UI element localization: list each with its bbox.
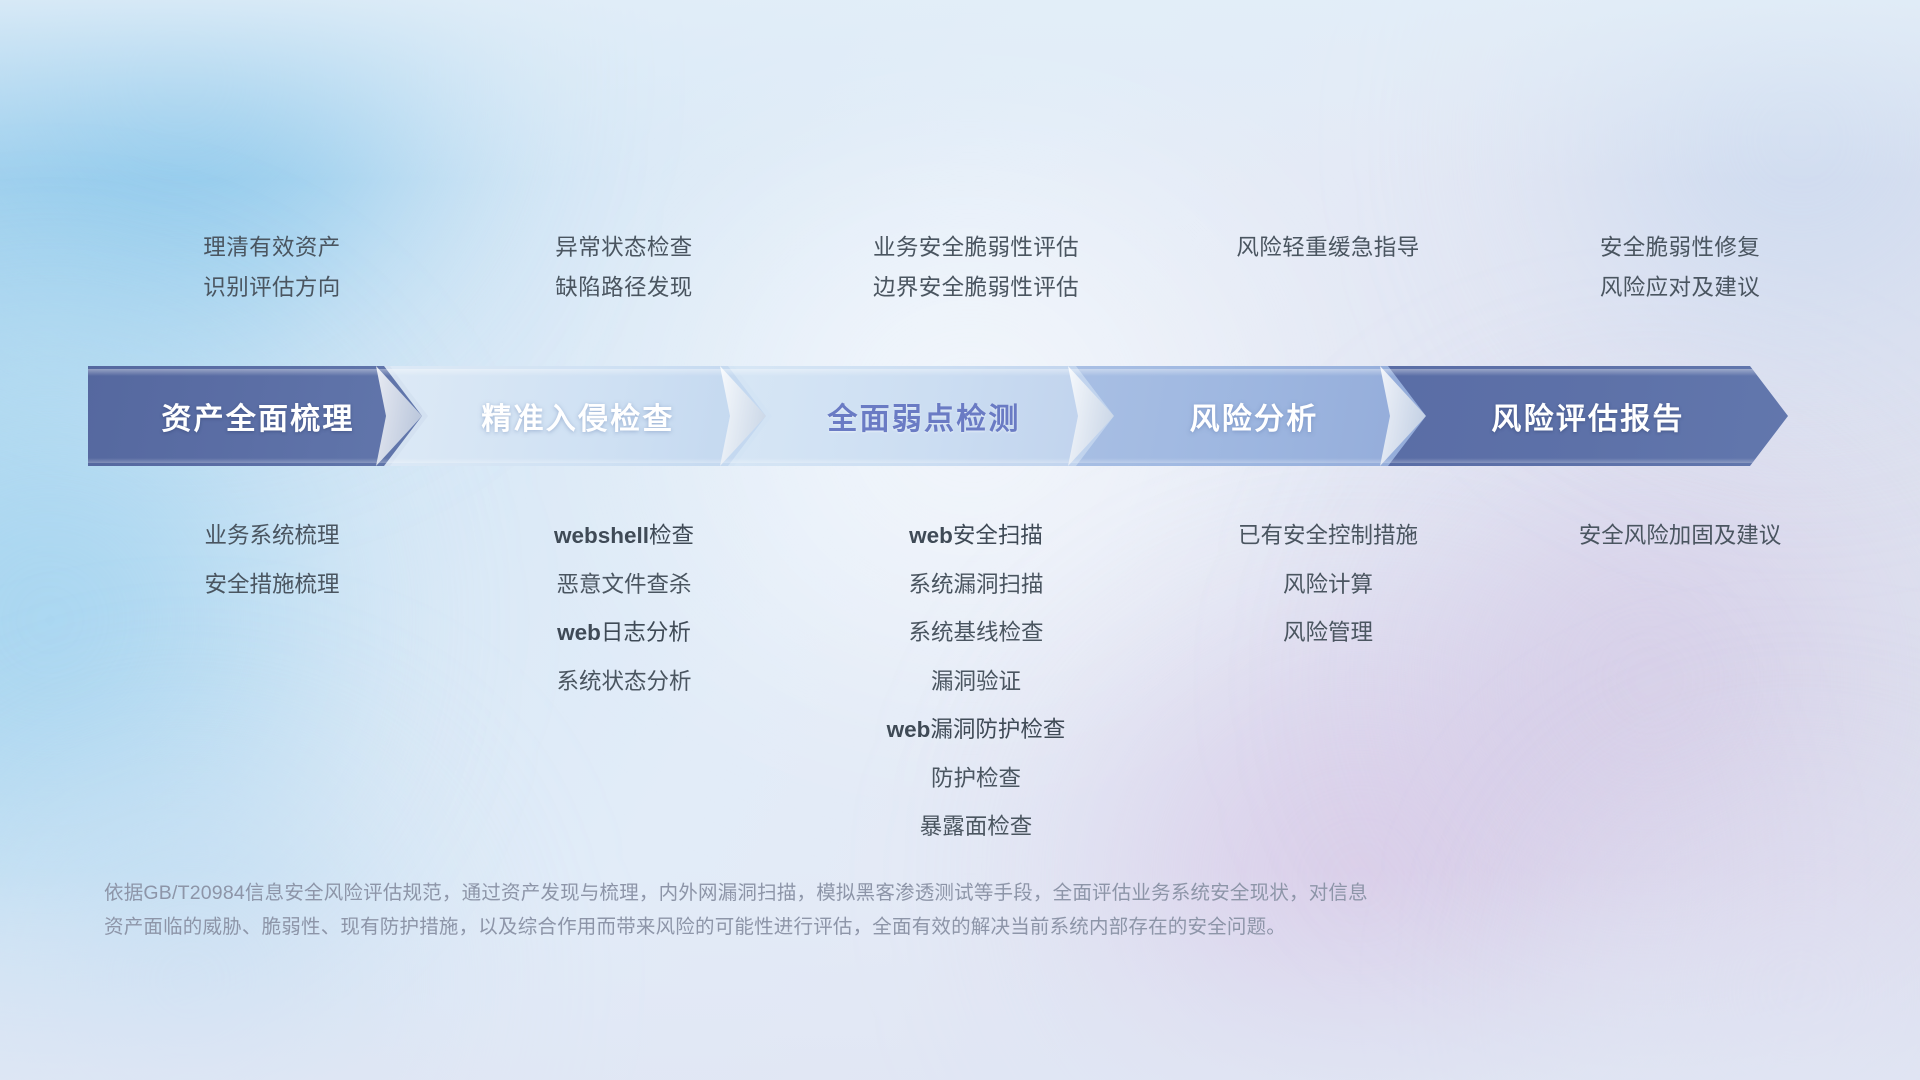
stage-top-label: 风险应对及建议 xyxy=(1504,268,1856,308)
stage-detail-item: 系统漏洞扫描 xyxy=(800,561,1152,610)
stage-chevron-title: 风险评估报告 xyxy=(1491,394,1684,438)
stage-detail-item-latin: webshell xyxy=(554,523,649,548)
stage-top-label: 业务安全脆弱性评估 xyxy=(800,228,1152,268)
stage-detail-item: 业务系统梳理 xyxy=(96,512,448,561)
stage-detail-item: 漏洞验证 xyxy=(800,658,1152,707)
stage-detail-item: 系统状态分析 xyxy=(448,658,800,707)
stage-chevron-title: 风险分析 xyxy=(1190,394,1319,438)
stage-top-label: 识别评估方向 xyxy=(96,268,448,308)
stage-detail-item: 恶意文件查杀 xyxy=(448,561,800,610)
stage-detail-item: web漏洞防护检查 xyxy=(800,706,1152,755)
stage-top-labels-4: 风险轻重缓急指导 xyxy=(1152,228,1504,308)
stage-detail-item-latin: web xyxy=(557,620,601,645)
stage-detail-item: web日志分析 xyxy=(448,609,800,658)
stage-detail-lists-row: 业务系统梳理 安全措施梳理 webshell检查 恶意文件查杀 web日志分析 … xyxy=(96,512,1856,852)
stage-detail-item-cjk: 安全扫描 xyxy=(953,523,1043,548)
stage-detail-list-5: 安全风险加固及建议 xyxy=(1504,512,1856,561)
stage-detail-item: 已有安全控制措施 xyxy=(1152,512,1504,561)
stage-detail-item-cjk: 检查 xyxy=(649,523,694,548)
stage-detail-item: 风险管理 xyxy=(1152,609,1504,658)
stage-top-label: 风险轻重缓急指导 xyxy=(1152,228,1504,268)
process-diagram: 理清有效资产 识别评估方向 异常状态检查 缺陷路径发现 业务安全脆弱性评估 边界… xyxy=(0,0,1920,1080)
stage-top-labels-1: 理清有效资产 识别评估方向 xyxy=(96,228,448,308)
stage-detail-item-latin: web xyxy=(887,717,931,742)
stage-detail-item: 系统基线检查 xyxy=(800,609,1152,658)
stage-chevron-risk-analysis[interactable]: 风险分析 xyxy=(1076,366,1432,466)
stage-detail-item: 安全措施梳理 xyxy=(96,561,448,610)
stage-detail-list-1: 业务系统梳理 安全措施梳理 xyxy=(96,512,448,609)
stage-top-labels-row: 理清有效资产 识别评估方向 异常状态检查 缺陷路径发现 业务安全脆弱性评估 边界… xyxy=(96,228,1856,308)
stage-top-label: 理清有效资产 xyxy=(96,228,448,268)
stage-detail-item-cjk: 日志分析 xyxy=(601,620,691,645)
stage-chevron-risk-report[interactable]: 风险评估报告 xyxy=(1388,366,1788,466)
footer-description: 依据GB/T20984信息安全风险评估规范，通过资产发现与梳理，内外网漏洞扫描，… xyxy=(104,876,1624,944)
stage-chevron-band: 资产全面梳理 精准入侵检查 全面弱点检测 风险分析 风险评估报告 xyxy=(88,366,1848,466)
stage-detail-list-3: web安全扫描 系统漏洞扫描 系统基线检查 漏洞验证 web漏洞防护检查 防护检… xyxy=(800,512,1152,852)
stage-detail-list-2: webshell检查 恶意文件查杀 web日志分析 系统状态分析 xyxy=(448,512,800,706)
stage-chevron-asset-inventory[interactable]: 资产全面梳理 xyxy=(88,366,428,466)
stage-detail-item: 风险计算 xyxy=(1152,561,1504,610)
stage-top-labels-3: 业务安全脆弱性评估 边界安全脆弱性评估 xyxy=(800,228,1152,308)
stage-chevron-title: 全面弱点检测 xyxy=(827,394,1020,438)
stage-detail-item-latin: web xyxy=(909,523,953,548)
stage-top-labels-2: 异常状态检查 缺陷路径发现 xyxy=(448,228,800,308)
stage-detail-item: web安全扫描 xyxy=(800,512,1152,561)
stage-chevron-title: 精准入侵检查 xyxy=(481,394,674,438)
stage-chevron-intrusion-check[interactable]: 精准入侵检查 xyxy=(384,366,772,466)
stage-top-label: 安全脆弱性修复 xyxy=(1504,228,1856,268)
stage-detail-item: 防护检查 xyxy=(800,755,1152,804)
stage-chevron-weakness-detection[interactable]: 全面弱点检测 xyxy=(728,366,1120,466)
stage-top-label: 异常状态检查 xyxy=(448,228,800,268)
stage-top-labels-5: 安全脆弱性修复 风险应对及建议 xyxy=(1504,228,1856,308)
stage-detail-item: 暴露面检查 xyxy=(800,803,1152,852)
stage-top-label: 边界安全脆弱性评估 xyxy=(800,268,1152,308)
stage-detail-item-cjk: 漏洞防护检查 xyxy=(930,717,1065,742)
stage-top-label: 缺陷路径发现 xyxy=(448,268,800,308)
footer-line: 依据GB/T20984信息安全风险评估规范，通过资产发现与梳理，内外网漏洞扫描，… xyxy=(104,876,1624,910)
stage-detail-list-4: 已有安全控制措施 风险计算 风险管理 xyxy=(1152,512,1504,658)
stage-detail-item: webshell检查 xyxy=(448,512,800,561)
stage-chevron-title: 资产全面梳理 xyxy=(161,394,354,438)
stage-detail-item: 安全风险加固及建议 xyxy=(1504,512,1856,561)
footer-line: 资产面临的威胁、脆弱性、现有防护措施，以及综合作用而带来风险的可能性进行评估，全… xyxy=(104,910,1624,944)
